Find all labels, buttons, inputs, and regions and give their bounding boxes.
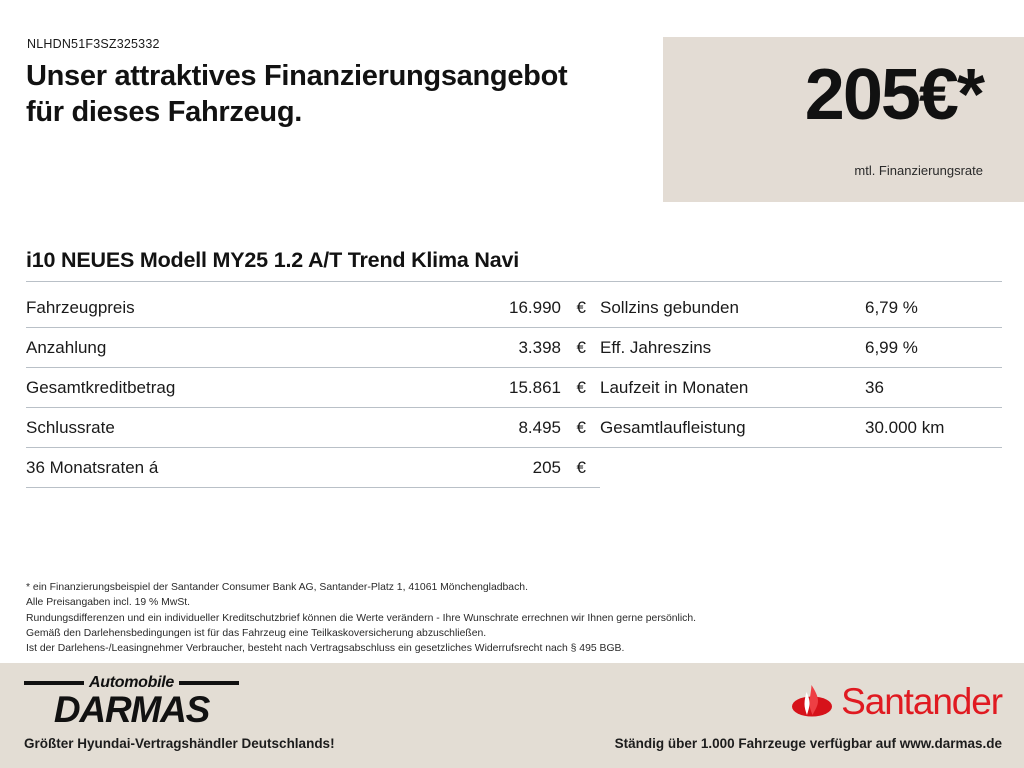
footer-section: Automobile DARMAS Größter Hyundai-Vertra…	[0, 663, 1024, 768]
disclaimer-line-1: * ein Finanzierungsbeispiel der Santande…	[26, 580, 986, 595]
headline-line-1: Unser attraktives Finanzierungsangebot	[26, 58, 666, 94]
table-row: Gesamtkreditbetrag 15.861 € Laufzeit in …	[26, 368, 1002, 408]
table-row: Schlussrate 8.495 € Gesamtlaufleistung 3…	[26, 408, 1002, 448]
vehicle-model-title: i10 NEUES Modell MY25 1.2 A/T Trend Klim…	[26, 248, 1002, 282]
table-row: 36 Monatsraten á 205 €	[26, 448, 1002, 488]
santander-flame-icon	[790, 684, 834, 718]
vehicle-identification-number: NLHDN51F3SZ325332	[27, 37, 160, 51]
dealer-logo-script: Automobile	[84, 674, 179, 692]
spec-unit-left: €	[561, 448, 600, 488]
disclaimer-line-4: Gemäß den Darlehensbedingungen ist für d…	[26, 626, 986, 641]
spec-unit-left: €	[561, 288, 600, 328]
table-row: Anzahlung 3.398 € Eff. Jahreszins 6,99 %	[26, 328, 1002, 368]
spec-value-left: 15.861	[446, 368, 561, 408]
spec-unit-left: €	[561, 408, 600, 448]
spec-value-left: 16.990	[446, 288, 561, 328]
inventory-tagline: Ständig über 1.000 Fahrzeuge verfügbar a…	[615, 736, 1002, 751]
dealer-logo-top-row: Automobile	[24, 674, 239, 691]
spec-unit-left: €	[561, 328, 600, 368]
spec-value-right: 30.000 km	[865, 408, 1002, 448]
spec-label-right: Gesamtlaufleistung	[600, 408, 865, 448]
monthly-rate-caption: mtl. Finanzierungsrate	[854, 163, 983, 178]
spec-value-right: 6,99 %	[865, 328, 1002, 368]
spec-value-left: 3.398	[446, 328, 561, 368]
spec-value-right: 36	[865, 368, 1002, 408]
disclaimer-line-3: Rundungsdifferenzen und ein individuelle…	[26, 611, 986, 626]
dealer-logo: Automobile DARMAS	[24, 674, 239, 722]
bank-logo: Santander	[790, 679, 1002, 723]
spec-label-left: Schlussrate	[26, 408, 446, 448]
disclaimer-line-2: Alle Preisangaben incl. 19 % MwSt.	[26, 595, 986, 610]
legal-disclaimer: * ein Finanzierungsbeispiel der Santande…	[26, 580, 986, 656]
bank-logo-wordmark: Santander	[841, 683, 1002, 720]
monthly-rate-box: 205€* mtl. Finanzierungsrate	[663, 37, 1024, 202]
disclaimer-line-5: Ist der Darlehens-/Leasingnehmer Verbrau…	[26, 641, 986, 656]
spec-label-left: Fahrzeugpreis	[26, 288, 446, 328]
spec-value-left: 205	[446, 448, 561, 488]
headline-line-2: für dieses Fahrzeug.	[26, 94, 666, 130]
dealer-logo-wordmark: DARMAS	[24, 692, 239, 728]
spec-value-right: 6,79 %	[865, 288, 1002, 328]
spec-label-left: 36 Monatsraten á	[26, 448, 446, 488]
logo-bar-left-icon	[24, 681, 84, 685]
spec-label-left: Gesamtkreditbetrag	[26, 368, 446, 408]
spec-label-right: Sollzins gebunden	[600, 288, 865, 328]
spec-label-right	[600, 448, 865, 488]
monthly-rate-amount: 205€*	[805, 54, 983, 136]
header-section: NLHDN51F3SZ325332 Unser attraktives Fina…	[0, 0, 1024, 225]
dealer-tagline: Größter Hyundai-Vertragshändler Deutschl…	[24, 736, 335, 751]
spec-unit-left: €	[561, 368, 600, 408]
spec-label-left: Anzahlung	[26, 328, 446, 368]
financing-spec-table: Fahrzeugpreis 16.990 € Sollzins gebunden…	[26, 288, 1002, 488]
page-title: Unser attraktives Finanzierungsangebot f…	[26, 58, 666, 130]
logo-bar-right-icon	[179, 681, 239, 685]
spec-value-left: 8.495	[446, 408, 561, 448]
spec-value-right	[865, 448, 1002, 488]
table-row: Fahrzeugpreis 16.990 € Sollzins gebunden…	[26, 288, 1002, 328]
spec-label-right: Laufzeit in Monaten	[600, 368, 865, 408]
spec-label-right: Eff. Jahreszins	[600, 328, 865, 368]
financing-offer-page: NLHDN51F3SZ325332 Unser attraktives Fina…	[0, 0, 1024, 768]
